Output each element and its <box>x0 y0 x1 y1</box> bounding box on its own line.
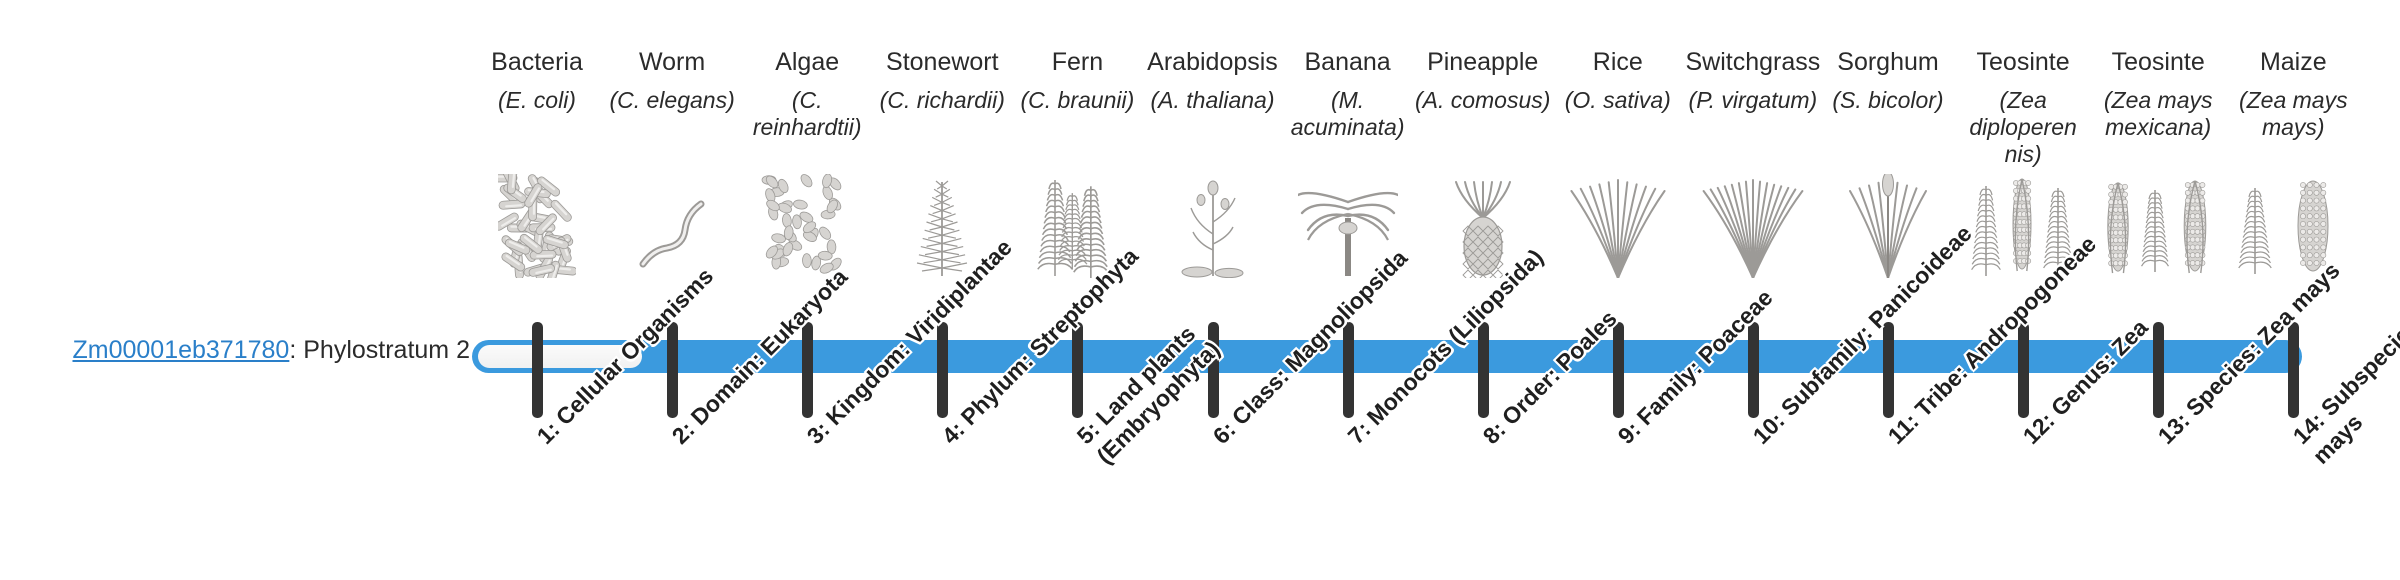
stratum-tick-11 <box>1883 322 1894 418</box>
organism-scientific-name: (Zea mays mays) <box>2233 87 2353 141</box>
organism-column-header-8: Pineapple(A. comosus) <box>1408 48 1558 114</box>
organism-column-header-6: Arabidopsis(A. thaliana) <box>1138 48 1288 114</box>
organism-scientific-name: (Zea mays mexicana) <box>2098 87 2218 141</box>
stratum-tick-7 <box>1343 322 1354 418</box>
organism-column-header-11: Sorghum(S. bicolor) <box>1813 48 1963 114</box>
label-separator: : <box>289 336 303 364</box>
organism-scientific-name: (O. sativa) <box>1543 87 1693 114</box>
organism-column-header-2: Worm(C. elegans) <box>597 48 747 114</box>
stratum-tick-10 <box>1748 322 1759 418</box>
organism-common-name: Worm <box>597 48 747 77</box>
organism-column-header-5: Fern(C. braunii) <box>1002 48 1152 114</box>
organism-scientific-name: (A. comosus) <box>1408 87 1558 114</box>
stratum-tick-9 <box>1613 322 1624 418</box>
organism-common-name: Banana <box>1273 48 1423 77</box>
organism-common-name: Maize <box>2218 48 2368 77</box>
organism-column-header-14: Maize(Zea mays mays) <box>2218 48 2368 141</box>
stratum-tick-12 <box>2018 322 2029 418</box>
organism-common-name: Teosinte <box>1948 48 2098 77</box>
organism-common-name: Arabidopsis <box>1138 48 1288 77</box>
stratum-tick-14 <box>2288 322 2299 418</box>
phylostratum-diagram: Zm00001eb371780: Phylostratum 2 Bacteria… <box>0 0 2400 580</box>
organism-common-name: Pineapple <box>1408 48 1558 77</box>
stratum-tick-2 <box>667 322 678 418</box>
gene-phylostratum-text: : Phylostratum 2 <box>289 336 470 364</box>
stratum-tick-8 <box>1478 322 1489 418</box>
organism-scientific-name: (P. virgatum) <box>1678 87 1828 114</box>
organism-scientific-name: (C. reinhardtii) <box>747 87 867 141</box>
organism-scientific-name: (M. acuminata) <box>1273 87 1423 141</box>
gene-id-link[interactable]: Zm00001eb371780 <box>72 336 289 364</box>
organism-common-name: Fern <box>1002 48 1152 77</box>
stratum-tick-1 <box>532 322 543 418</box>
organism-column-header-10: Switchgrass(P. virgatum) <box>1678 48 1828 114</box>
organism-common-name: Teosinte <box>2083 48 2233 77</box>
organism-column-header-12: Teosinte(Zea diploperennis) <box>1948 48 2098 168</box>
organism-column-header-9: Rice(O. sativa) <box>1543 48 1693 114</box>
organism-scientific-name: (E. coli) <box>462 87 612 114</box>
organism-column-header-1: Bacteria(E. coli) <box>462 48 612 114</box>
phylostratum-value-text: Phylostratum 2 <box>303 336 470 364</box>
organism-scientific-name: (C. elegans) <box>597 87 747 114</box>
stratum-tick-3 <box>802 322 813 418</box>
organism-scientific-name: (S. bicolor) <box>1813 87 1963 114</box>
organism-common-name: Rice <box>1543 48 1693 77</box>
organism-column-header-3: Algae(C. reinhardtii) <box>732 48 882 141</box>
organism-scientific-name: (A. thaliana) <box>1138 87 1288 114</box>
organism-common-name: Algae <box>732 48 882 77</box>
organism-scientific-name: (Zea diploperennis) <box>1963 87 2083 168</box>
organism-common-name: Switchgrass <box>1678 48 1828 77</box>
stratum-tick-13 <box>2153 322 2164 418</box>
stratum-tick-4 <box>937 322 948 418</box>
organism-common-name: Stonewort <box>867 48 1017 77</box>
organism-column-header-13: Teosinte(Zea mays mexicana) <box>2083 48 2233 141</box>
organism-common-name: Sorghum <box>1813 48 1963 77</box>
stratum-tick-5 <box>1072 322 1083 418</box>
bacteria-illustration <box>462 168 612 278</box>
organism-common-name: Bacteria <box>462 48 612 77</box>
organism-scientific-name: (C. richardii) <box>867 87 1017 114</box>
organism-column-header-4: Stonewort(C. richardii) <box>867 48 1017 114</box>
gene-phylostratum-label: Zm00001eb371780: Phylostratum 2 <box>0 335 470 365</box>
organism-column-header-7: Banana(M. acuminata) <box>1273 48 1423 141</box>
organism-scientific-name: (C. braunii) <box>1002 87 1152 114</box>
